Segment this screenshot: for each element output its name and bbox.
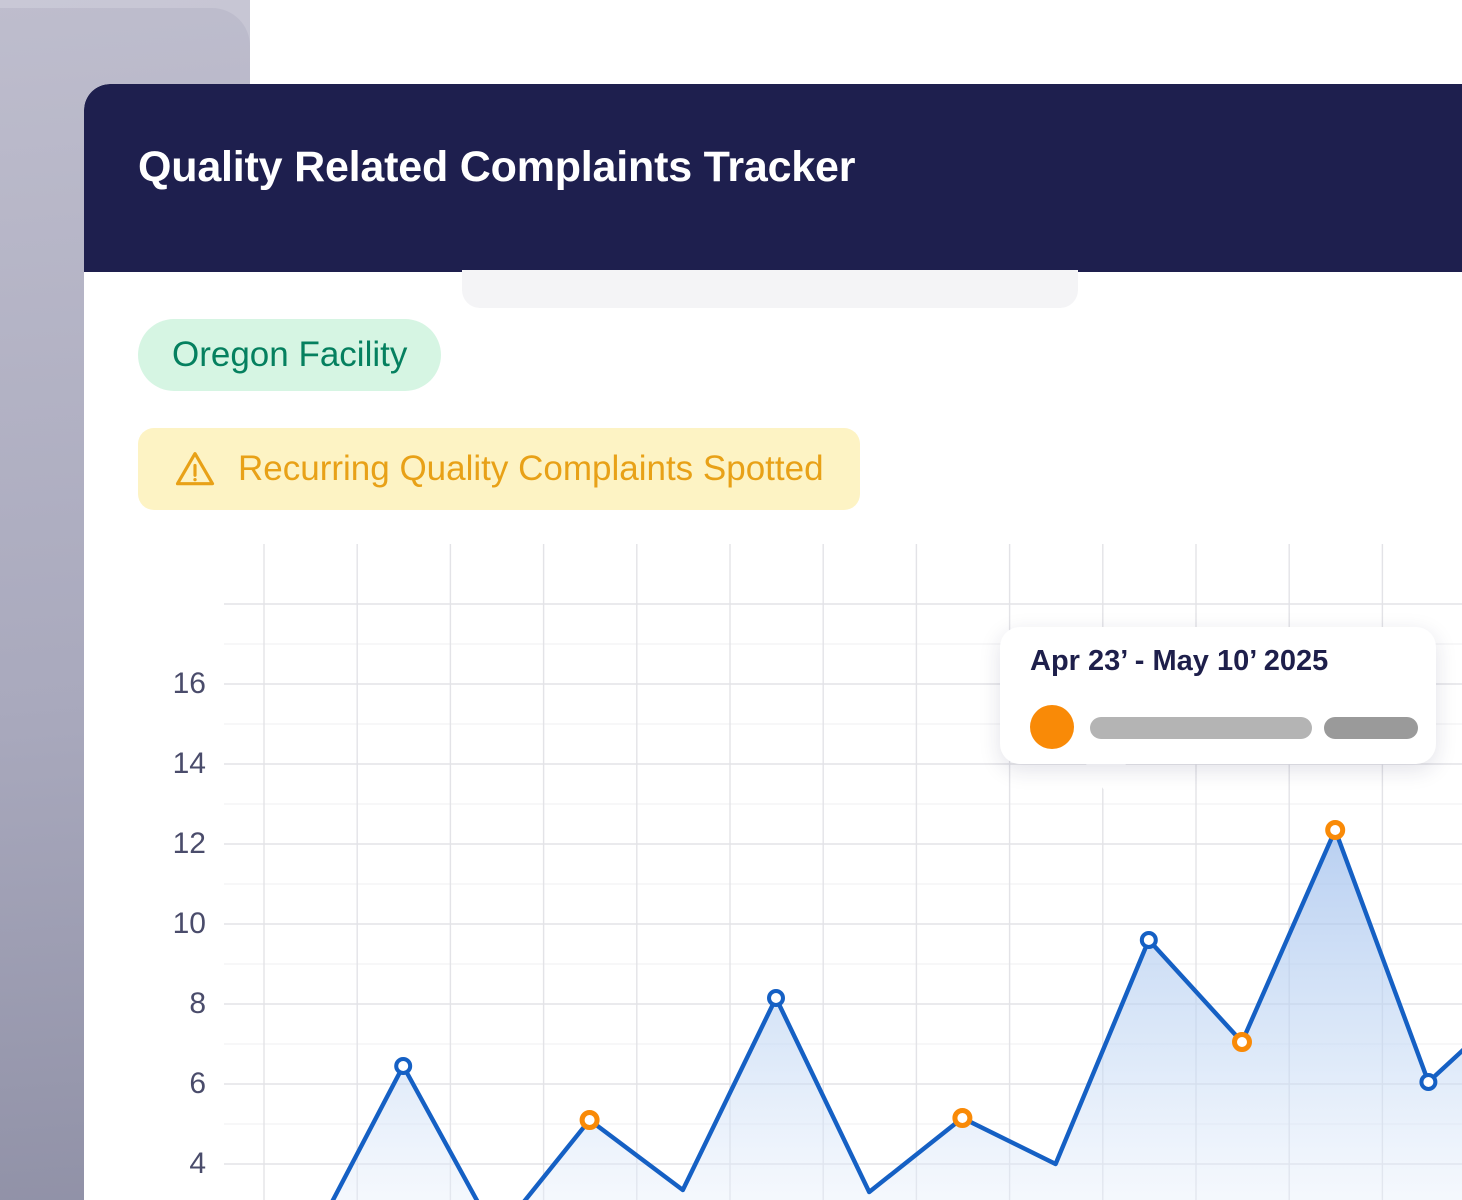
y-tick-14: 14 — [173, 747, 206, 781]
background-card-peek — [462, 270, 1078, 308]
tooltip-date-range: Apr 23’ - May 10’ 2025 — [1030, 645, 1328, 678]
app-header: Quality Related Complaints Tracker — [84, 84, 1462, 272]
chart-tooltip: Apr 23’ - May 10’ 2025 — [1000, 627, 1436, 764]
alert-badge[interactable]: Recurring Quality Complaints Spotted — [138, 428, 860, 510]
y-tick-8: 8 — [189, 987, 206, 1021]
y-tick-10: 10 — [173, 907, 206, 941]
data-point-marker[interactable] — [1328, 823, 1343, 838]
data-point-marker[interactable] — [582, 1113, 597, 1128]
data-point-marker[interactable] — [1142, 933, 1156, 947]
facility-badge[interactable]: Oregon Facility — [138, 319, 441, 391]
y-tick-12: 12 — [173, 827, 206, 861]
page-title: Quality Related Complaints Tracker — [138, 143, 855, 192]
data-point-marker[interactable] — [769, 991, 783, 1005]
data-point-marker[interactable] — [1235, 1035, 1250, 1050]
app-window: Quality Related Complaints Tracker Orego… — [84, 84, 1462, 1200]
tooltip-placeholder-bar-2 — [1324, 717, 1418, 739]
data-point-marker[interactable] — [1421, 1075, 1435, 1089]
facility-badge-label: Oregon Facility — [172, 335, 407, 375]
y-tick-16: 16 — [173, 667, 206, 701]
y-axis: 16 14 12 10 8 6 4 2 — [84, 544, 224, 1200]
warning-triangle-icon — [174, 448, 216, 490]
tooltip-pointer — [1084, 761, 1128, 793]
data-point-marker[interactable] — [396, 1059, 410, 1073]
tooltip-series-dot — [1030, 705, 1074, 749]
tooltip-placeholder-bar-1 — [1090, 717, 1312, 739]
y-tick-6: 6 — [189, 1067, 206, 1101]
y-tick-4: 4 — [189, 1147, 206, 1181]
data-point-marker[interactable] — [955, 1111, 970, 1126]
alert-badge-label: Recurring Quality Complaints Spotted — [238, 449, 824, 489]
screenshot-root: Quality Related Complaints Tracker Orego… — [0, 0, 1462, 1200]
